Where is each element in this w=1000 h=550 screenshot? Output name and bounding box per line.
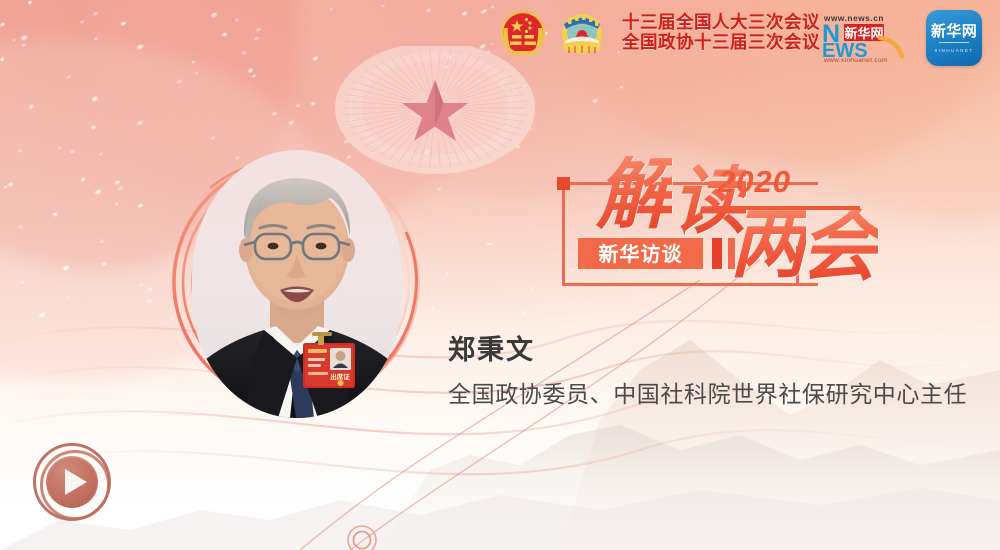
svg-text:1949: 1949: [578, 22, 588, 27]
cppcc-emblem-icon: 1949: [557, 8, 607, 60]
title-char-hui: 会: [800, 208, 878, 286]
title-corner-square: [557, 177, 570, 190]
concentric-circle-decor-icon: [342, 520, 382, 550]
guest-portrait-photo: 出席证: [192, 150, 402, 418]
national-emblem-china-icon: [498, 8, 548, 60]
badge-tick-1: [712, 238, 722, 269]
app-logo-divider: [939, 42, 969, 43]
program-title-lockup: 解 读 两 会 2020 新华访谈: [560, 158, 860, 300]
title-char-jie: 解: [596, 156, 672, 234]
svg-text:出席证: 出席证: [330, 372, 350, 381]
guest-role: 全国政协委员、中国社科院世界社保研究中心主任: [448, 375, 967, 409]
guest-name: 郑秉文: [448, 328, 535, 367]
news-logo-bottom-url: www.xinhuanet.com: [823, 57, 888, 64]
play-button[interactable]: [33, 443, 111, 521]
program-badge-label: 新华访谈: [599, 244, 683, 264]
session-title-text: 十三届全国人大三次会议 全国政协十三届三次会议: [622, 14, 820, 53]
video-poster-stage: 1949 十三届全国人大三次会议 全国政协十三届三次会议 www.news.cn…: [0, 0, 1000, 550]
guest-portrait-frame: 出席证: [170, 142, 420, 424]
news-logo-zh: 新华网: [844, 26, 883, 42]
play-triangle-icon: [65, 469, 87, 495]
title-year: 2020: [718, 164, 791, 200]
session-title-line2: 全国政协十三届三次会议: [622, 34, 820, 54]
xinhuanet-logo[interactable]: www.news.cn N EWS 新华网 www.xinhuanet.com: [822, 12, 917, 64]
program-badge: 新华访谈: [578, 238, 703, 269]
app-logo-latin: XINHUANET: [934, 48, 973, 53]
app-logo-zh: 新华网: [931, 24, 977, 39]
session-title-line1: 十三届全国人大三次会议: [622, 14, 820, 34]
badge-tick-2: [728, 238, 735, 269]
title-year-rule: [712, 206, 860, 210]
header-emblems-and-title: 1949 十三届全国人大三次会议 全国政协十三届三次会议: [498, 8, 820, 60]
title-char-liang: 两: [730, 206, 806, 282]
xinhuanet-app-logo[interactable]: 新华网 XINHUANET: [926, 10, 982, 66]
